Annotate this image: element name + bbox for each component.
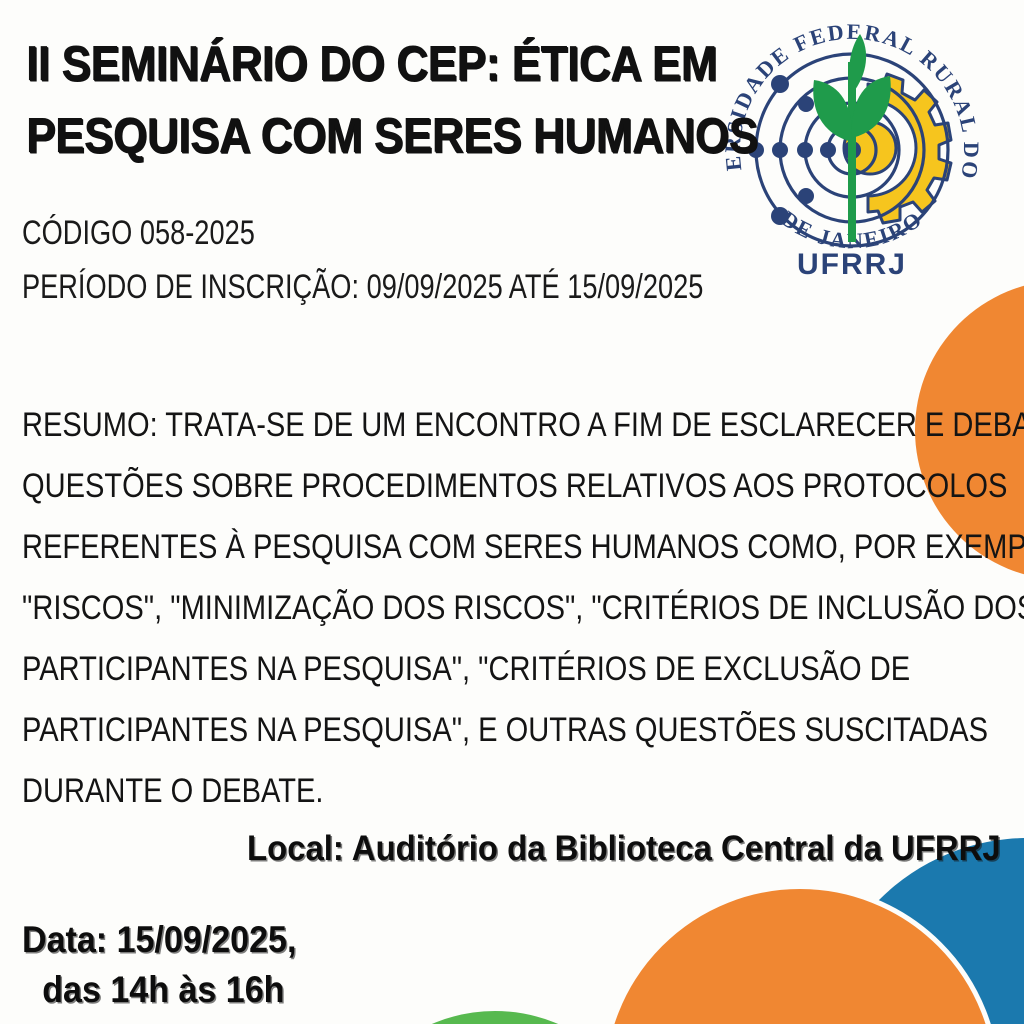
resumo-line: REFERENTES À PESQUISA COM SERES HUMANOS … [22, 517, 838, 578]
decorative-circle-green-bottom [330, 1006, 660, 1024]
resumo-line: PARTICIPANTES NA PESQUISA", E OUTRAS QUE… [22, 700, 838, 761]
data-line-2: das 14h às 16h [22, 965, 296, 1015]
codigo-line: CÓDIGO 058-2025 [22, 206, 646, 260]
resumo-line: "RISCOS", "MINIMIZAÇÃO DOS RISCOS", "CRI… [22, 578, 838, 639]
data-line-1: Data: 15/09/2025, [22, 915, 296, 965]
logo-orbit-nodes [748, 75, 861, 225]
page-title: II SEMINÁRIO DO CEP: ÉTICA EM PESQUISA C… [26, 28, 726, 172]
resumo-text: RESUMO: TRATA-SE DE UM ENCONTRO A FIM DE… [22, 395, 976, 822]
decorative-circle-orange-bottom [600, 884, 1000, 1024]
logo-acronym: UFRRJ [797, 248, 907, 281]
periodo-inscricao-line: PERÍODO DE INSCRIÇÃO: 09/09/2025 ATÉ 15/… [22, 260, 646, 314]
resumo-line: RESUMO: TRATA-SE DE UM ENCONTRO A FIM DE… [22, 395, 838, 456]
resumo-line: QUESTÕES SOBRE PROCEDIMENTOS RELATIVOS A… [22, 456, 838, 517]
event-meta: CÓDIGO 058-2025 PERÍODO DE INSCRIÇÃO: 09… [22, 206, 802, 314]
title-line-2: PESQUISA COM SERES HUMANOS [26, 100, 656, 172]
poster-canvas: UNIVERSIDADE FEDERAL RURAL DO RIO DE JAN… [0, 0, 1024, 1024]
data-block: Data: 15/09/2025, das 14h às 16h [22, 915, 320, 1015]
title-line-1: II SEMINÁRIO DO CEP: ÉTICA EM [26, 28, 656, 100]
resumo-line: DURANTE O DEBATE. [22, 761, 838, 822]
local-line: Local: Auditório da Biblioteca Central d… [247, 827, 1001, 871]
resumo-line: PARTICIPANTES NA PESQUISA", "CRITÉRIOS D… [22, 639, 838, 700]
